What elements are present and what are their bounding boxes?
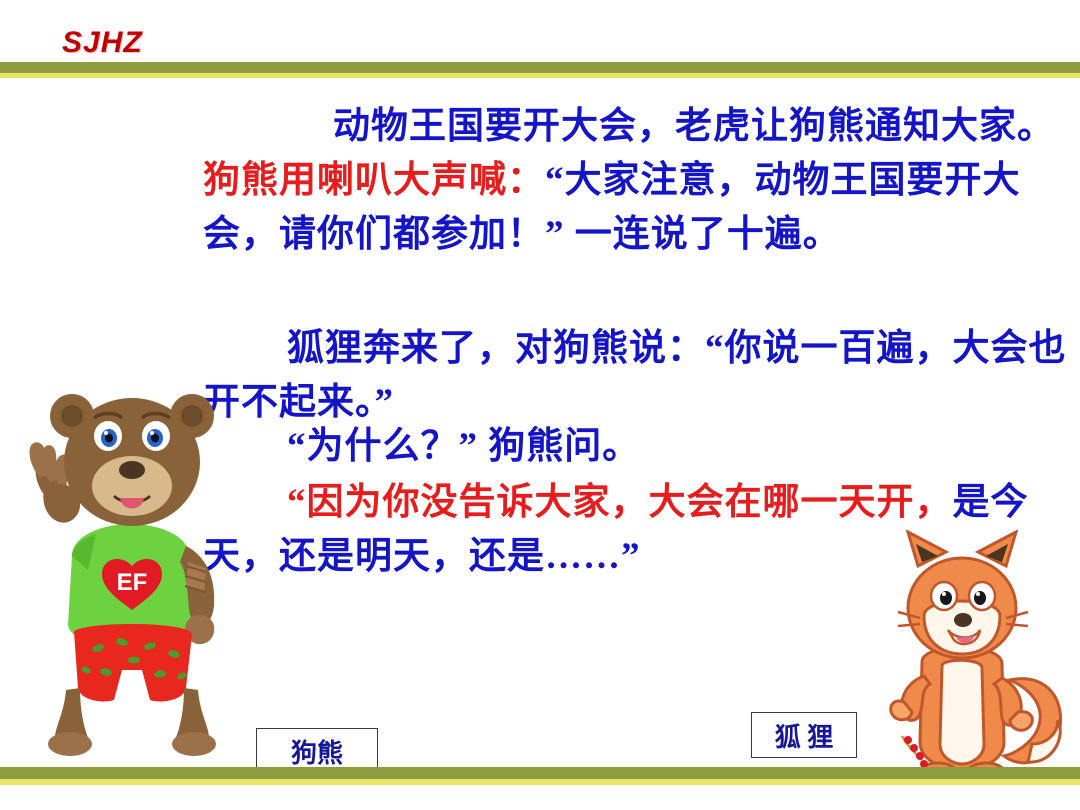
label-fox: 狐 狸: [751, 712, 857, 758]
svg-text:EF: EF: [117, 569, 148, 596]
header-yellow-rule: [0, 73, 1080, 78]
bear-mascot-illustration: EF: [10, 370, 250, 770]
paragraph-1-run-1: 动物王国要开大会，老虎让狗熊通知大家。: [333, 106, 1055, 147]
paragraph-2-run-1: 狐狸奔来了，对狗熊说：“你说一百遍，大会也开不起来。”: [203, 328, 1067, 423]
label-fox-text: 狐 狸: [775, 717, 834, 754]
paragraph-3-run-1: “为什么？” 狗熊问。: [287, 426, 640, 467]
paragraph-1-run-2: 狗熊用喇叭大声喊：: [203, 160, 545, 201]
paragraph-1: 动物王国要开大会，老虎让狗熊通知大家。狗熊用喇叭大声喊：“大家注意，动物王国要开…: [203, 100, 1058, 262]
page-title: SJHZ: [62, 26, 143, 60]
header-olive-rule: [0, 62, 1080, 73]
paragraph-4-run-1: “因为你没告诉大家，大会在哪一天开，: [287, 482, 953, 523]
slide-canvas: SJHZ 动物王国要开大会，老虎让狗熊通知大家。狗熊用喇叭大声喊：“大家注意，动…: [0, 0, 1080, 810]
footer-white-strip: [0, 785, 1080, 810]
paragraph-2: 狐狸奔来了，对狗熊说：“你说一百遍，大会也开不起来。”: [203, 322, 1068, 430]
footer-olive-rule: [0, 767, 1080, 779]
label-bear-text: 狗熊: [291, 733, 343, 770]
fox-cartoon-illustration: [862, 530, 1072, 785]
paragraph-3: “为什么？” 狗熊问。: [203, 420, 1068, 474]
